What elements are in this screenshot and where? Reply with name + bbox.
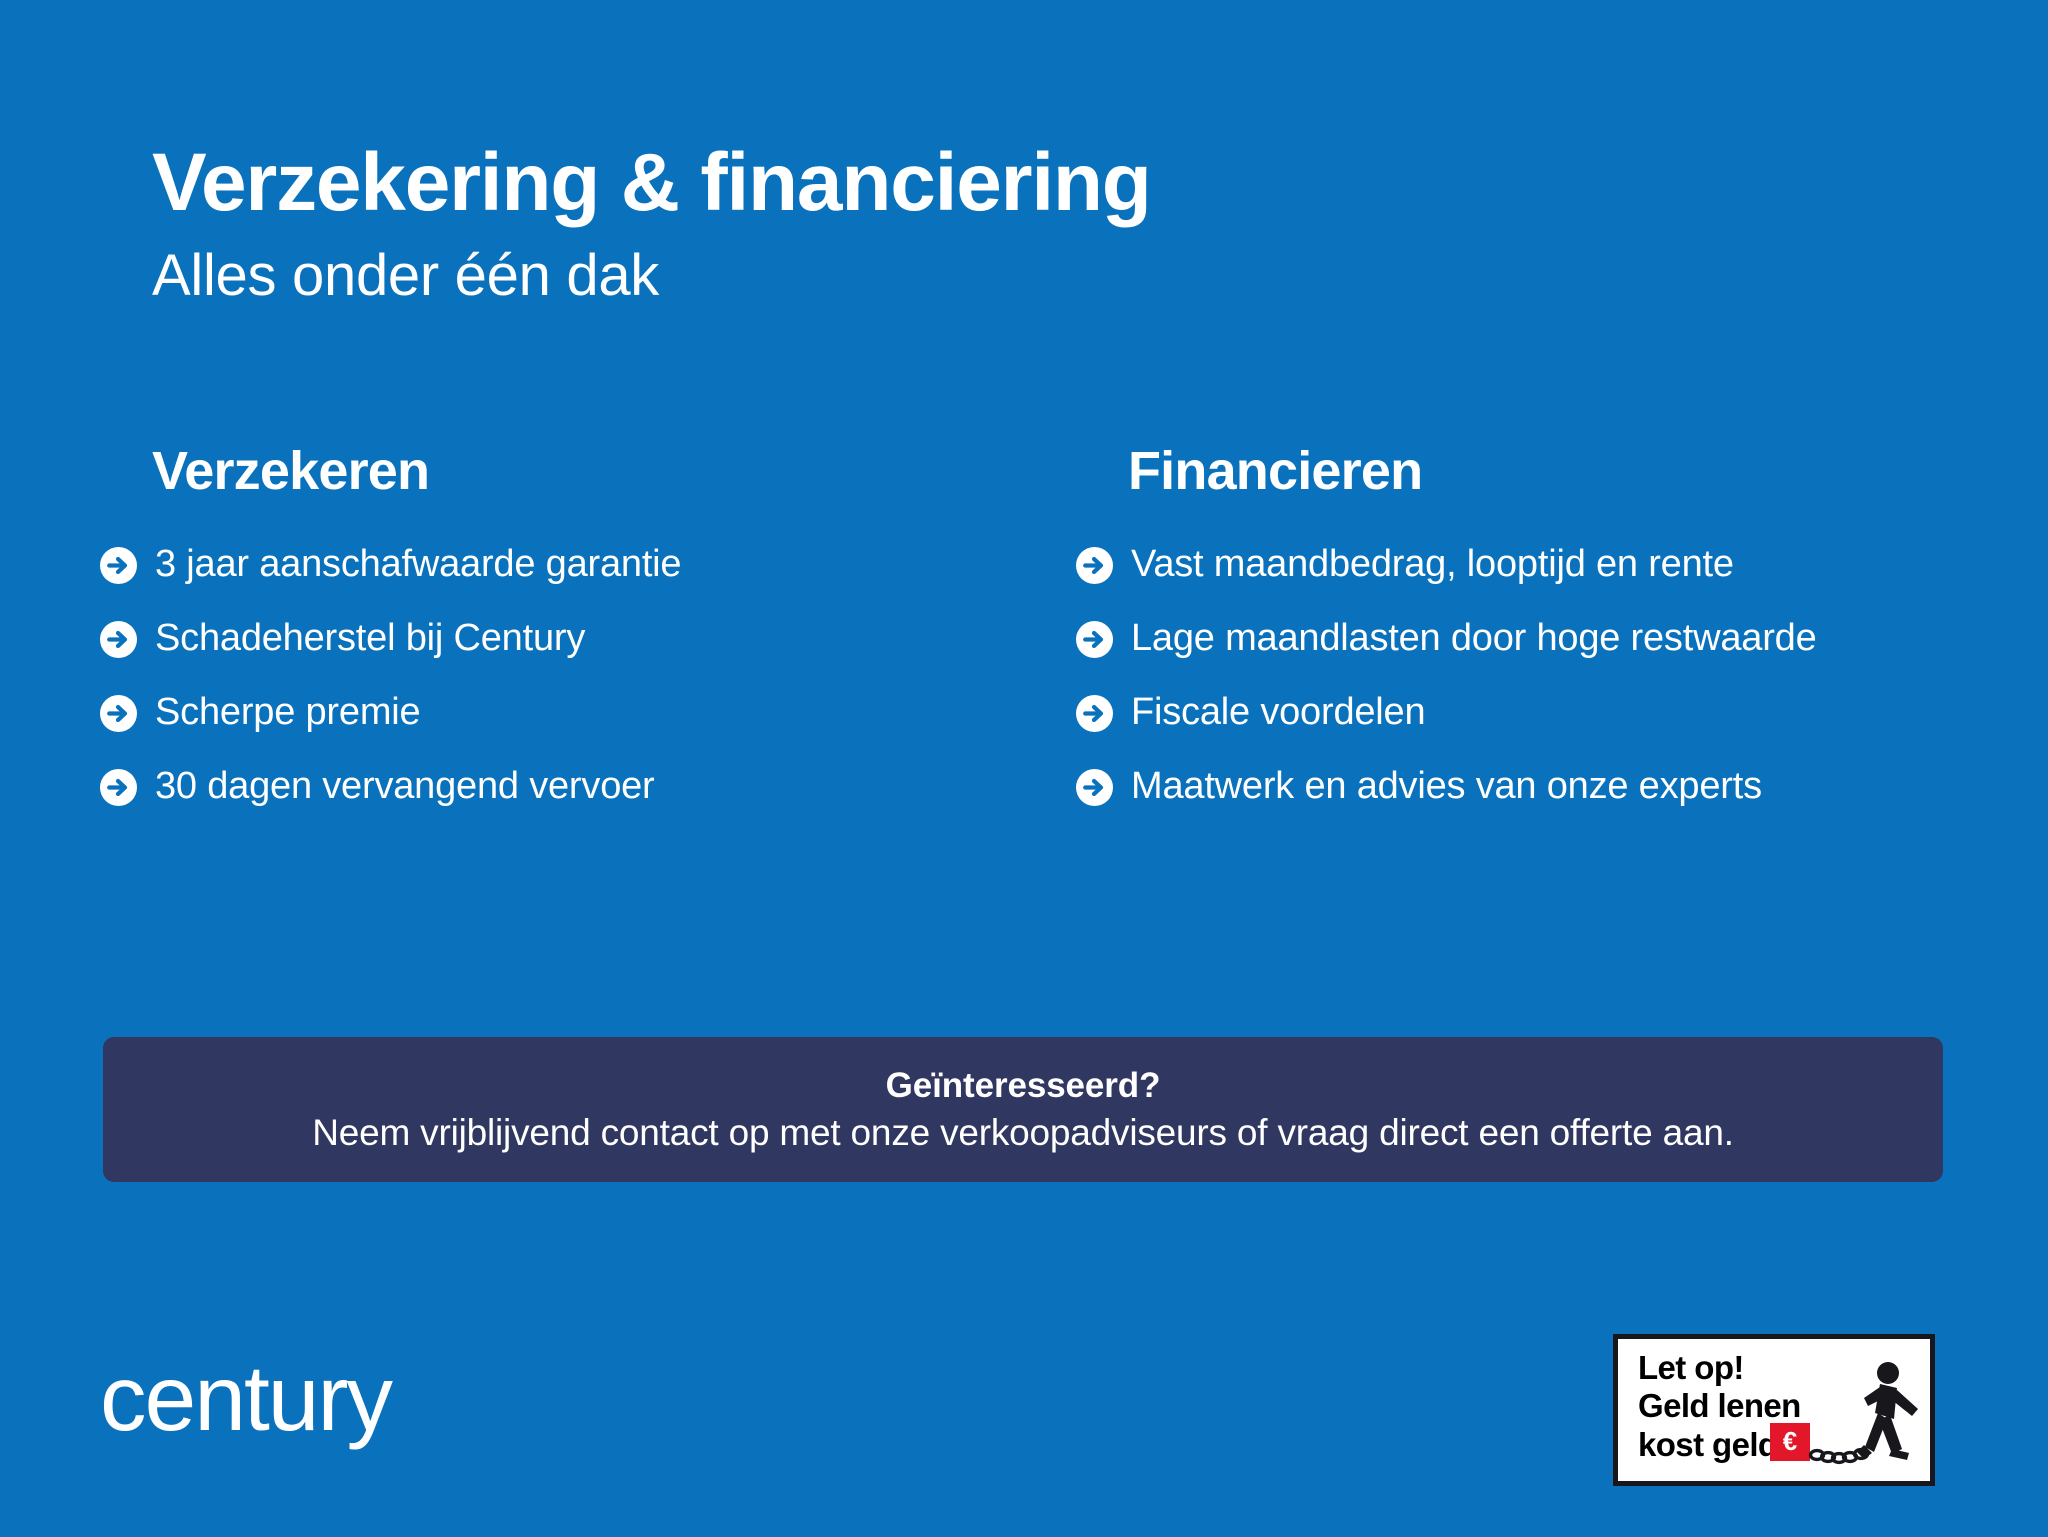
credit-warning-badge: Let op! Geld lenen kost geld € <box>1613 1334 1935 1486</box>
list-item: Maatwerk en advies van onze experts <box>1076 750 2000 824</box>
arrow-right-circle-icon <box>100 695 137 732</box>
column-heading: Financieren <box>1128 440 2000 502</box>
column-heading: Verzekeren <box>152 440 1024 502</box>
list-item: 3 jaar aanschafwaarde garantie <box>100 528 1024 602</box>
list-item: Vast maandbedrag, looptijd en rente <box>1076 528 2000 602</box>
arrow-right-circle-icon <box>100 547 137 584</box>
page-subtitle: Alles onder één dak <box>152 244 1952 308</box>
list-item-label: Scherpe premie <box>155 692 420 734</box>
arrow-right-circle-icon <box>1076 695 1113 732</box>
list-item-label: Maatwerk en advies van onze experts <box>1131 766 1762 808</box>
arrow-right-circle-icon <box>1076 769 1113 806</box>
arrow-right-circle-icon <box>1076 547 1113 584</box>
list-item-label: Fiscale voordelen <box>1131 692 1425 734</box>
chained-walking-person-icon: € <box>1768 1357 1928 1477</box>
arrow-right-circle-icon <box>100 621 137 658</box>
credit-warning-inner: Let op! Geld lenen kost geld € <box>1638 1345 1930 1475</box>
bullet-list-financieren: Vast maandbedrag, looptijd en rente Lage… <box>1076 528 2000 824</box>
list-item-label: 3 jaar aanschafwaarde garantie <box>155 544 681 586</box>
list-item: Schadeherstel bij Century <box>100 602 1024 676</box>
list-item: Lage maandlasten door hoge restwaarde <box>1076 602 2000 676</box>
list-item: Scherpe premie <box>100 676 1024 750</box>
list-item: Fiscale voordelen <box>1076 676 2000 750</box>
page-title: Verzekering & financiering <box>152 140 1952 226</box>
century-logo: century <box>100 1352 391 1445</box>
slide-root: Verzekering & financiering Alles onder é… <box>0 0 2048 1537</box>
list-item-label: Lage maandlasten door hoge restwaarde <box>1131 618 1817 660</box>
arrow-right-circle-icon <box>100 769 137 806</box>
feature-columns: Verzekeren 3 jaar aanschafwaarde garanti… <box>100 440 2000 824</box>
cta-title: Geïnteresseerd? <box>886 1066 1161 1106</box>
cta-banner: Geïnteresseerd? Neem vrijblijvend contac… <box>103 1037 1943 1182</box>
bullet-list-verzekeren: 3 jaar aanschafwaarde garantie Schadeher… <box>100 528 1024 824</box>
column-verzekeren: Verzekeren 3 jaar aanschafwaarde garanti… <box>100 440 1024 824</box>
column-financieren: Financieren Vast maandbedrag, looptijd e… <box>1076 440 2000 824</box>
list-item: 30 dagen vervangend vervoer <box>100 750 1024 824</box>
header: Verzekering & financiering Alles onder é… <box>152 140 1952 308</box>
list-item-label: 30 dagen vervangend vervoer <box>155 766 655 808</box>
cta-body: Neem vrijblijvend contact op met onze ve… <box>312 1112 1734 1154</box>
list-item-label: Vast maandbedrag, looptijd en rente <box>1131 544 1734 586</box>
list-item-label: Schadeherstel bij Century <box>155 618 585 660</box>
arrow-right-circle-icon <box>1076 621 1113 658</box>
svg-text:€: € <box>1783 1426 1797 1456</box>
